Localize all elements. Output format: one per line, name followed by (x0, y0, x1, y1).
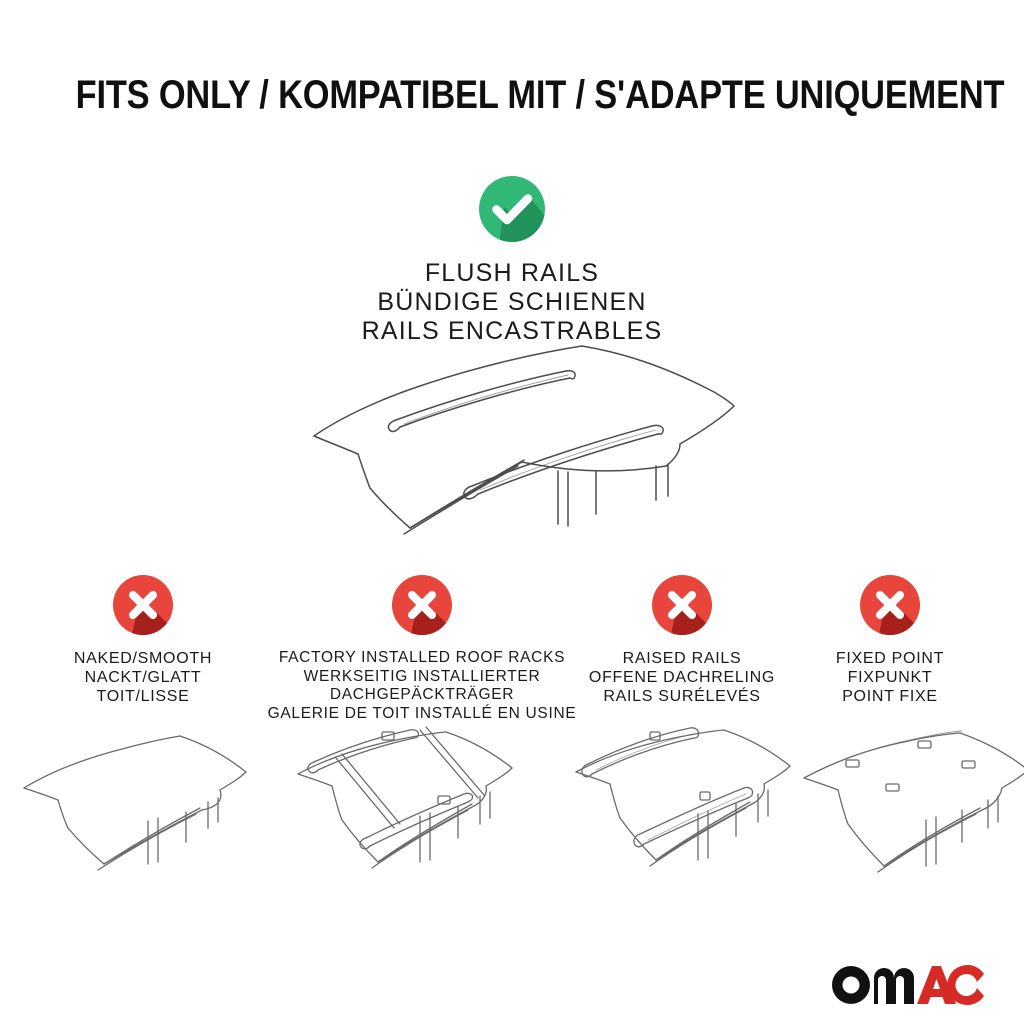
incompatible-3-label-de: FIXPUNKT (806, 668, 974, 687)
incompatible-1-label-de-2: DACHGEPÄCKTRÄGER (262, 686, 582, 705)
incompatible-item-factory-racks: FACTORY INSTALLED ROOF RACKS WERKSEITIG … (262, 575, 582, 723)
incompatible-section: NAKED/SMOOTH NACKT/GLATT TOIT/LISSE (0, 575, 1024, 715)
incompatible-3-label-fr: POINT FIXE (806, 687, 974, 706)
incompatible-0-label-en: NAKED/SMOOTH (53, 649, 233, 668)
incompatible-labels-3: FIXED POINT FIXPUNKT POINT FIXE (806, 649, 974, 706)
incompatible-labels-1: FACTORY INSTALLED ROOF RACKS WERKSEITIG … (262, 649, 582, 723)
incompatible-labels-0: NAKED/SMOOTH NACKT/GLATT TOIT/LISSE (53, 649, 233, 706)
red-x-circle-icon (860, 575, 920, 635)
page-title-bar: FITS ONLY / KOMPATIBEL MIT / S'ADAPTE UN… (0, 72, 1024, 118)
omac-logo (829, 960, 989, 1006)
page-title: FITS ONLY / KOMPATIBEL MIT / S'ADAPTE UN… (76, 72, 1005, 118)
car-roof-naked-smooth-drawing (8, 716, 258, 906)
incompatible-item-naked-smooth: NAKED/SMOOTH NACKT/GLATT TOIT/LISSE (53, 575, 233, 706)
compatible-label-de: BÜNDIGE SCHIENEN (0, 288, 1024, 317)
incompatible-0-label-de: NACKT/GLATT (53, 668, 233, 687)
compatible-labels: FLUSH RAILS BÜNDIGE SCHIENEN RAILS ENCAS… (0, 259, 1024, 346)
incompatible-2-label-de: OFFENE DACHRELING (578, 668, 786, 687)
incompatible-item-raised-rails: RAISED RAILS OFFENE DACHRELING RAILS SUR… (578, 575, 786, 706)
car-roof-flush-rails-drawing (300, 338, 740, 563)
car-roof-raised-rails-drawing (558, 716, 808, 906)
compatible-label-en: FLUSH RAILS (0, 259, 1024, 288)
compatible-section: FLUSH RAILS BÜNDIGE SCHIENEN RAILS ENCAS… (0, 176, 1024, 346)
incompatible-2-label-en: RAISED RAILS (578, 649, 786, 668)
incompatible-1-label-en: FACTORY INSTALLED ROOF RACKS (262, 649, 582, 668)
incompatible-1-label-de-1: WERKSEITIG INSTALLIERTER (262, 668, 582, 687)
green-check-circle-icon (479, 176, 545, 242)
infographic-canvas: FITS ONLY / KOMPATIBEL MIT / S'ADAPTE UN… (0, 0, 1024, 1024)
car-roof-factory-racks-drawing (278, 716, 528, 906)
incompatible-item-fixed-point: FIXED POINT FIXPUNKT POINT FIXE (806, 575, 974, 706)
incompatible-2-label-fr: RAILS SURÉLEVÉS (578, 687, 786, 706)
red-x-circle-icon (113, 575, 173, 635)
incompatible-0-label-fr: TOIT/LISSE (53, 687, 233, 706)
car-roof-fixed-point-drawing (790, 716, 1024, 906)
incompatible-3-label-en: FIXED POINT (806, 649, 974, 668)
red-x-circle-icon (392, 575, 452, 635)
incompatible-illustrations-row (0, 716, 1024, 906)
red-x-circle-icon (652, 575, 712, 635)
incompatible-labels-2: RAISED RAILS OFFENE DACHRELING RAILS SUR… (578, 649, 786, 706)
